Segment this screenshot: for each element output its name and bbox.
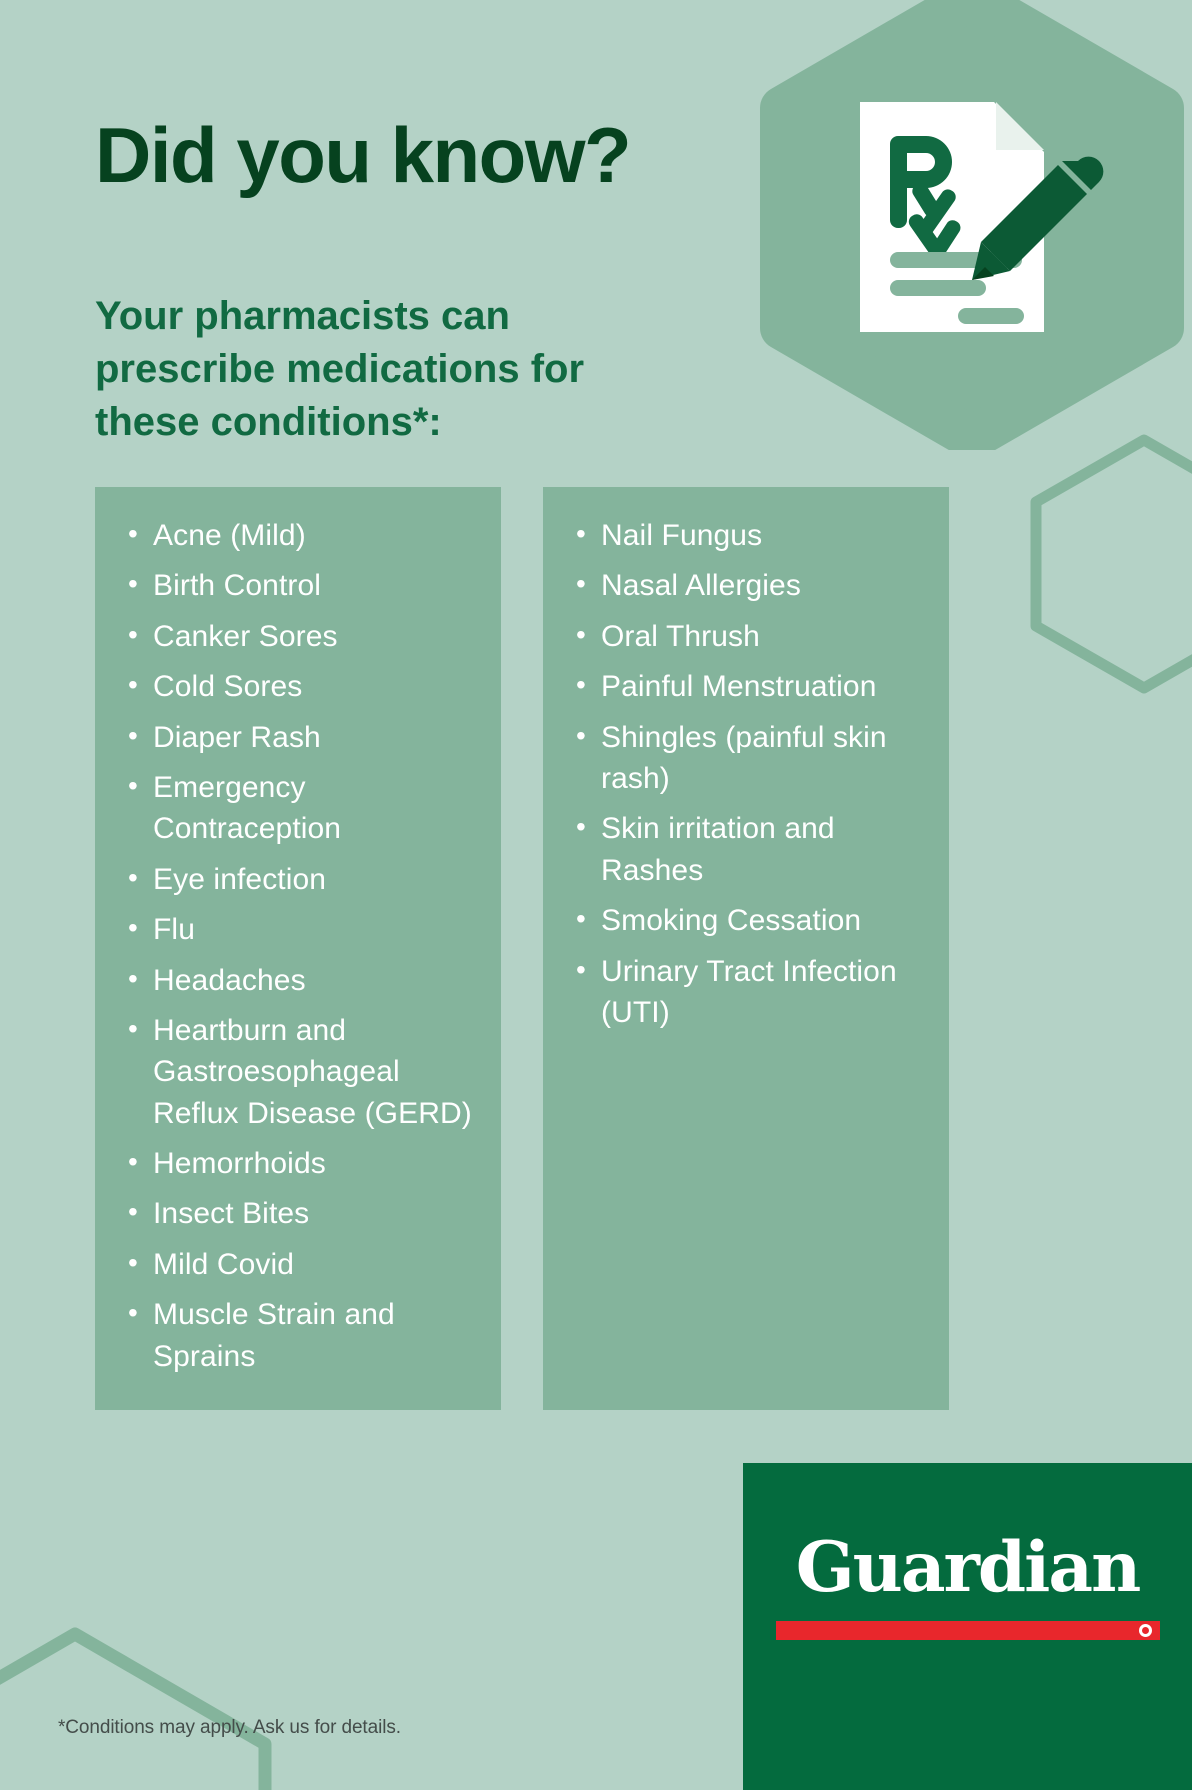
guardian-red-bar [776, 1621, 1160, 1640]
guardian-registered-mark [1139, 1624, 1152, 1637]
footnote-disclaimer: *Conditions may apply. Ask us for detail… [58, 1717, 401, 1739]
condition-list-item: Oral Thrush [569, 616, 923, 657]
signature-line [958, 308, 1024, 324]
guardian-logo: Guardian [743, 1463, 1192, 1790]
condition-list-item: Nasal Allergies [569, 565, 923, 606]
condition-list-item: Heartburn and Gastroesophageal Reflux Di… [121, 1010, 475, 1134]
condition-list-item: Birth Control [121, 565, 475, 606]
condition-list-item: Skin irritation and Rashes [569, 808, 923, 891]
condition-list-item: Shingles (painful skin rash) [569, 717, 923, 800]
hexagon-badge-rx [742, 0, 1192, 450]
condition-list-item: Eye infection [121, 859, 475, 900]
hexagon-outline-bottom-left [0, 1620, 290, 1790]
condition-list-item: Urinary Tract Infection (UTI) [569, 951, 923, 1034]
condition-list-item: Nail Fungus [569, 515, 923, 556]
poster-canvas: Did you know? Your pharmacists can presc… [0, 0, 1192, 1790]
condition-list-item: Flu [121, 909, 475, 950]
condition-list-item: Emergency Contraception [121, 767, 475, 850]
hexagon-outline-shape [0, 1634, 265, 1790]
condition-list-item: Insect Bites [121, 1193, 475, 1234]
condition-list-item: Smoking Cessation [569, 900, 923, 941]
hexagon-shape [782, 0, 1162, 438]
rx-glyph [890, 136, 963, 261]
condition-list-item: Mild Covid [121, 1244, 475, 1285]
paper-line-2 [890, 280, 986, 296]
paper-line-1 [890, 252, 1022, 268]
hexagon-outline-shape [1036, 440, 1192, 688]
condition-list-item: Painful Menstruation [569, 666, 923, 707]
condition-list-item: Acne (Mild) [121, 515, 475, 556]
page-title: Did you know? [95, 116, 630, 194]
condition-list-item: Canker Sores [121, 616, 475, 657]
conditions-list-left: Acne (Mild)Birth ControlCanker SoresCold… [95, 487, 501, 1406]
condition-list-item: Hemorrhoids [121, 1143, 475, 1184]
conditions-panel-left: Acne (Mild)Birth ControlCanker SoresCold… [95, 487, 501, 1410]
paper-shape [860, 102, 1044, 332]
conditions-list-right: Nail FungusNasal AllergiesOral ThrushPai… [543, 487, 949, 1062]
paper-fold [996, 102, 1044, 150]
condition-list-item: Diaper Rash [121, 717, 475, 758]
page-subtitle: Your pharmacists can prescribe medicatio… [95, 290, 615, 450]
condition-list-item: Muscle Strain and Sprains [121, 1294, 475, 1377]
guardian-wordmark: Guardian [796, 1527, 1140, 1608]
pen-icon [972, 157, 1103, 280]
conditions-panel-right: Nail FungusNasal AllergiesOral ThrushPai… [543, 487, 949, 1410]
condition-list-item: Cold Sores [121, 666, 475, 707]
hexagon-outline-right [1014, 430, 1192, 730]
condition-list-item: Headaches [121, 960, 475, 1001]
rx-prescription-with-pen-icon [860, 102, 1103, 332]
